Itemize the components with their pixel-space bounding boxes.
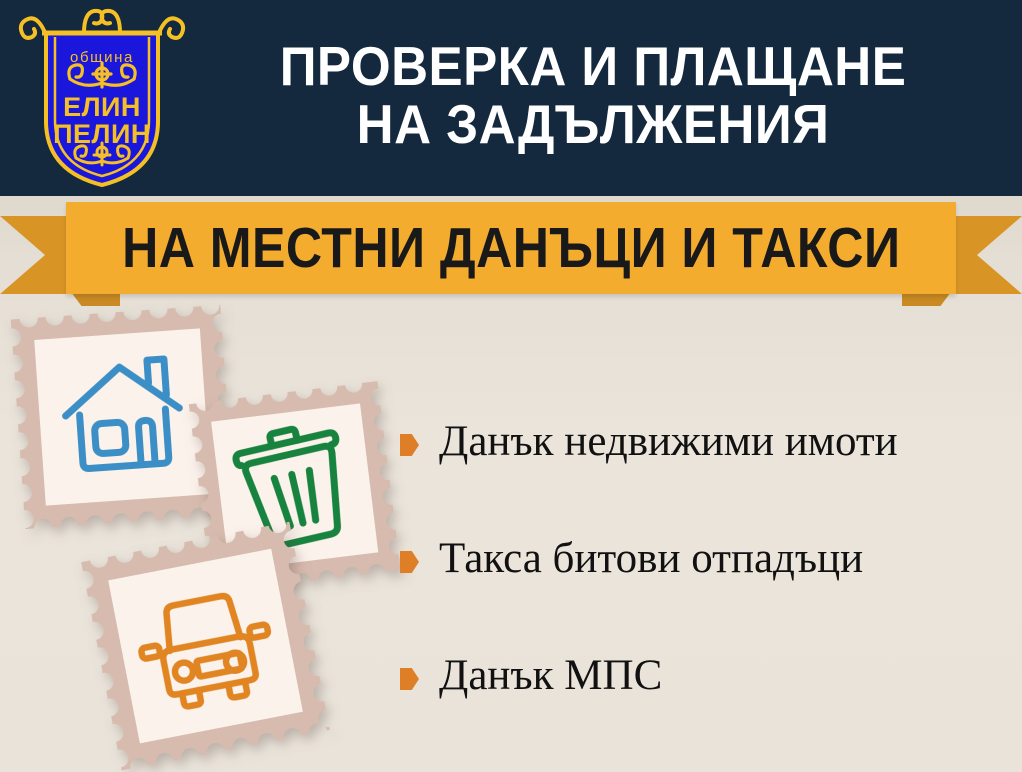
arrow-bullet-icon xyxy=(400,668,419,690)
list-item[interactable]: Такса битови отпадъци xyxy=(400,535,1012,583)
page-title: ПРОВЕРКА И ПЛАЩАНЕ НА ЗАДЪЛЖЕНИЯ xyxy=(190,37,1022,159)
obligations-list: Данък недвижими имоти Такса битови отпад… xyxy=(400,418,1012,769)
ribbon-panel: НА МЕСТНИ ДАНЪЦИ И ТАКСИ xyxy=(66,202,956,294)
stamp-card-vehicle xyxy=(81,522,331,772)
subtitle-ribbon: НА МЕСТНИ ДАНЪЦИ И ТАКСИ xyxy=(0,196,1022,304)
header-bar: община ЕЛИН ПЕЛИН xyxy=(0,0,1022,196)
list-item[interactable]: Данък недвижими имоти xyxy=(400,418,1012,466)
title-line-1: ПРОВЕРКА И ПЛАЩАНЕ xyxy=(218,37,968,95)
list-item[interactable]: Данък МПС xyxy=(400,652,1012,700)
crest-name-line1: ЕЛИН xyxy=(63,92,141,122)
list-item-label: Данък МПС xyxy=(439,652,662,700)
arrow-bullet-icon xyxy=(400,434,419,456)
poster-canvas: община ЕЛИН ПЕЛИН xyxy=(0,0,1022,772)
title-line-2: НА ЗАДЪЛЖЕНИЯ xyxy=(218,95,968,153)
list-item-label: Данък недвижими имоти xyxy=(439,418,898,466)
arrow-bullet-icon xyxy=(400,551,419,573)
elin-pelin-municipality-crest: община ЕЛИН ПЕЛИН xyxy=(14,3,190,193)
vehicle-stamp-graphic xyxy=(81,522,330,771)
ribbon-label: НА МЕСТНИ ДАНЪЦИ И ТАКСИ xyxy=(122,218,900,278)
list-item-label: Такса битови отпадъци xyxy=(439,535,863,583)
